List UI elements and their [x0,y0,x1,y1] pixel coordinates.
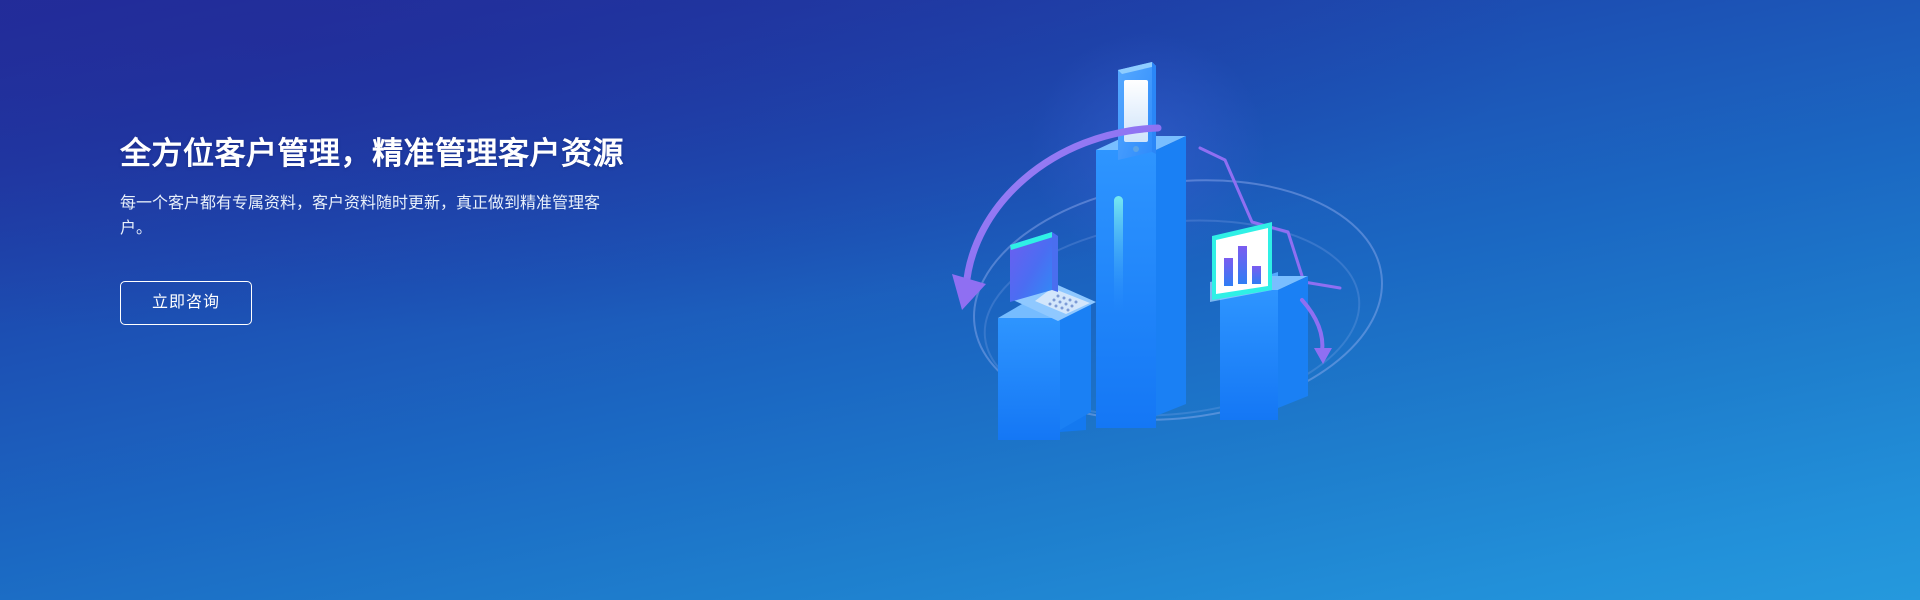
pillar-center [1096,130,1186,428]
page-title: 全方位客户管理，精准管理客户资源 [120,135,740,174]
hero-illustration [900,0,1460,600]
hero-banner: 全方位客户管理，精准管理客户资源 每一个客户都有专属资料，客户资料随时更新，真正… [0,0,1920,600]
hero-copy-block: 全方位客户管理，精准管理客户资源 每一个客户都有专属资料，客户资料随时更新，真正… [120,135,740,325]
tablet-device [1118,62,1156,160]
consult-now-button[interactable]: 立即咨询 [120,281,252,325]
hero-subtitle: 每一个客户都有专属资料，客户资料随时更新，真正做到精准管理客户。 [120,192,600,242]
